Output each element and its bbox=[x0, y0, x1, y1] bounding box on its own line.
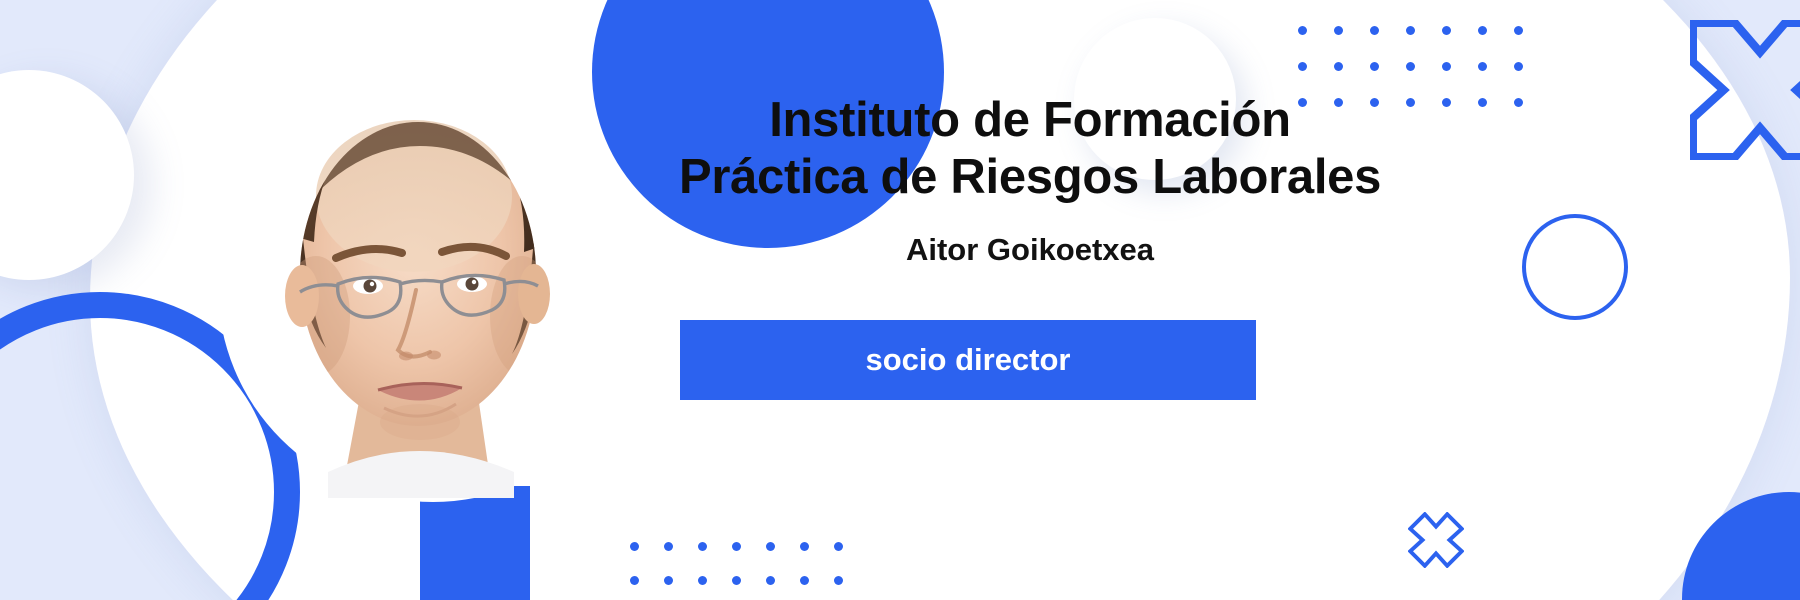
dot bbox=[1514, 62, 1523, 71]
dot bbox=[1514, 98, 1523, 107]
profile-banner: Instituto de Formación Práctica de Riesg… bbox=[0, 0, 1800, 600]
dot bbox=[1514, 26, 1523, 35]
cross-icon-large bbox=[1690, 20, 1800, 160]
title-line-1: Instituto de Formación bbox=[769, 93, 1291, 147]
dot bbox=[1478, 26, 1487, 35]
avatar bbox=[256, 78, 586, 498]
page-title: Instituto de Formación Práctica de Riesg… bbox=[600, 92, 1460, 207]
dot bbox=[1478, 98, 1487, 107]
blue-accent-tab-bottom bbox=[420, 486, 530, 600]
ring-thin-blue-right bbox=[1522, 214, 1628, 320]
role-button[interactable]: socio director bbox=[680, 320, 1256, 400]
banner-content: Instituto de Formación Práctica de Riesg… bbox=[600, 0, 1460, 600]
title-line-2: Práctica de Riesgos Laborales bbox=[679, 150, 1381, 204]
dot bbox=[1478, 62, 1487, 71]
portrait-photo bbox=[256, 78, 586, 498]
person-name: Aitor Goikoetxea bbox=[600, 232, 1460, 268]
